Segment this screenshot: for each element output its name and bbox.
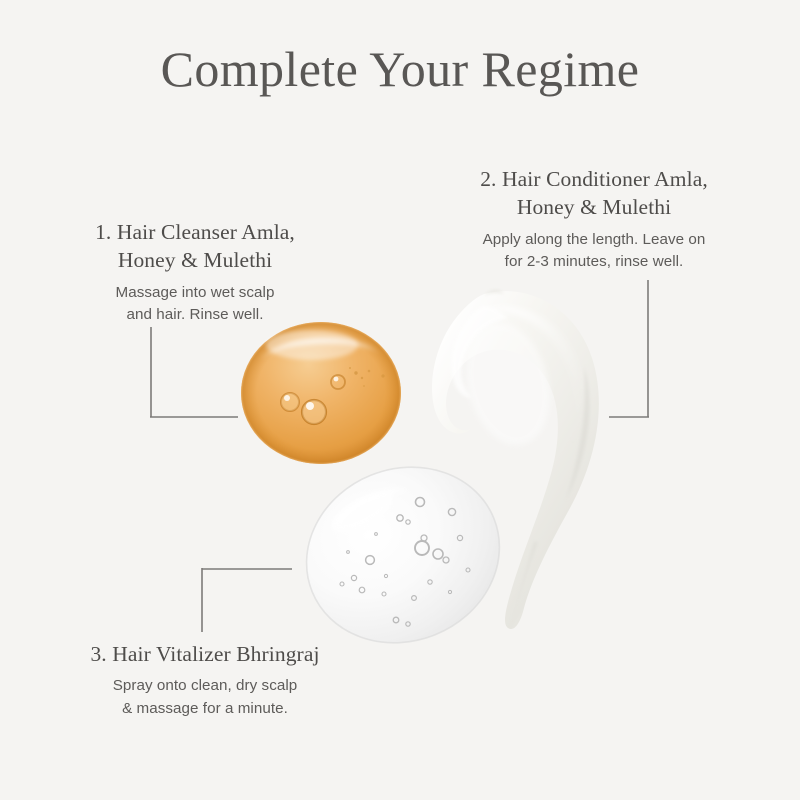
step-1-heading-line-1: 1. Hair Cleanser Amla, <box>95 220 295 244</box>
honey-droplet-shape <box>241 322 401 464</box>
step-1-block: 1. Hair Cleanser Amla, Honey & Mulethi M… <box>50 218 340 326</box>
step-2-heading-line-2: Honey & Mulethi <box>517 195 671 219</box>
step-2-block: 2. Hair Conditioner Amla, Honey & Muleth… <box>438 165 750 273</box>
step-2-description-line-2: for 2-3 minutes, rinse well. <box>505 253 684 270</box>
step-2-description-line-1: Apply along the length. Leave on <box>483 231 706 248</box>
gel-blob-shape <box>300 460 506 650</box>
honey-cleanser-swatch <box>238 316 404 466</box>
step-1-description: Massage into wet scalp and hair. Rinse w… <box>50 282 340 326</box>
step-1-heading: 1. Hair Cleanser Amla, Honey & Mulethi <box>50 218 340 275</box>
step-1-description-line-2: and hair. Rinse well. <box>127 306 264 323</box>
step-3-description-line-1: Spray onto clean, dry scalp <box>113 677 298 694</box>
step-1-description-line-1: Massage into wet scalp <box>116 284 275 301</box>
regime-infographic: Complete Your Regime <box>0 0 800 800</box>
step-3-heading: 3. Hair Vitalizer Bhringraj <box>40 640 370 668</box>
step-3-heading-line-1: 3. Hair Vitalizer Bhringraj <box>90 642 319 666</box>
page-title: Complete Your Regime <box>0 42 800 97</box>
step-2-heading-line-1: 2. Hair Conditioner Amla, <box>480 167 708 191</box>
step-3-block: 3. Hair Vitalizer Bhringraj Spray onto c… <box>40 640 370 720</box>
step-3-description-line-2: & massage for a minute. <box>122 700 288 717</box>
clear-gel-swatch <box>300 460 506 650</box>
step-3-description: Spray onto clean, dry scalp & massage fo… <box>40 675 370 719</box>
step-2-description: Apply along the length. Leave on for 2-3… <box>438 229 750 273</box>
step-1-heading-line-2: Honey & Mulethi <box>118 248 272 272</box>
step-2-heading: 2. Hair Conditioner Amla, Honey & Muleth… <box>438 165 750 222</box>
